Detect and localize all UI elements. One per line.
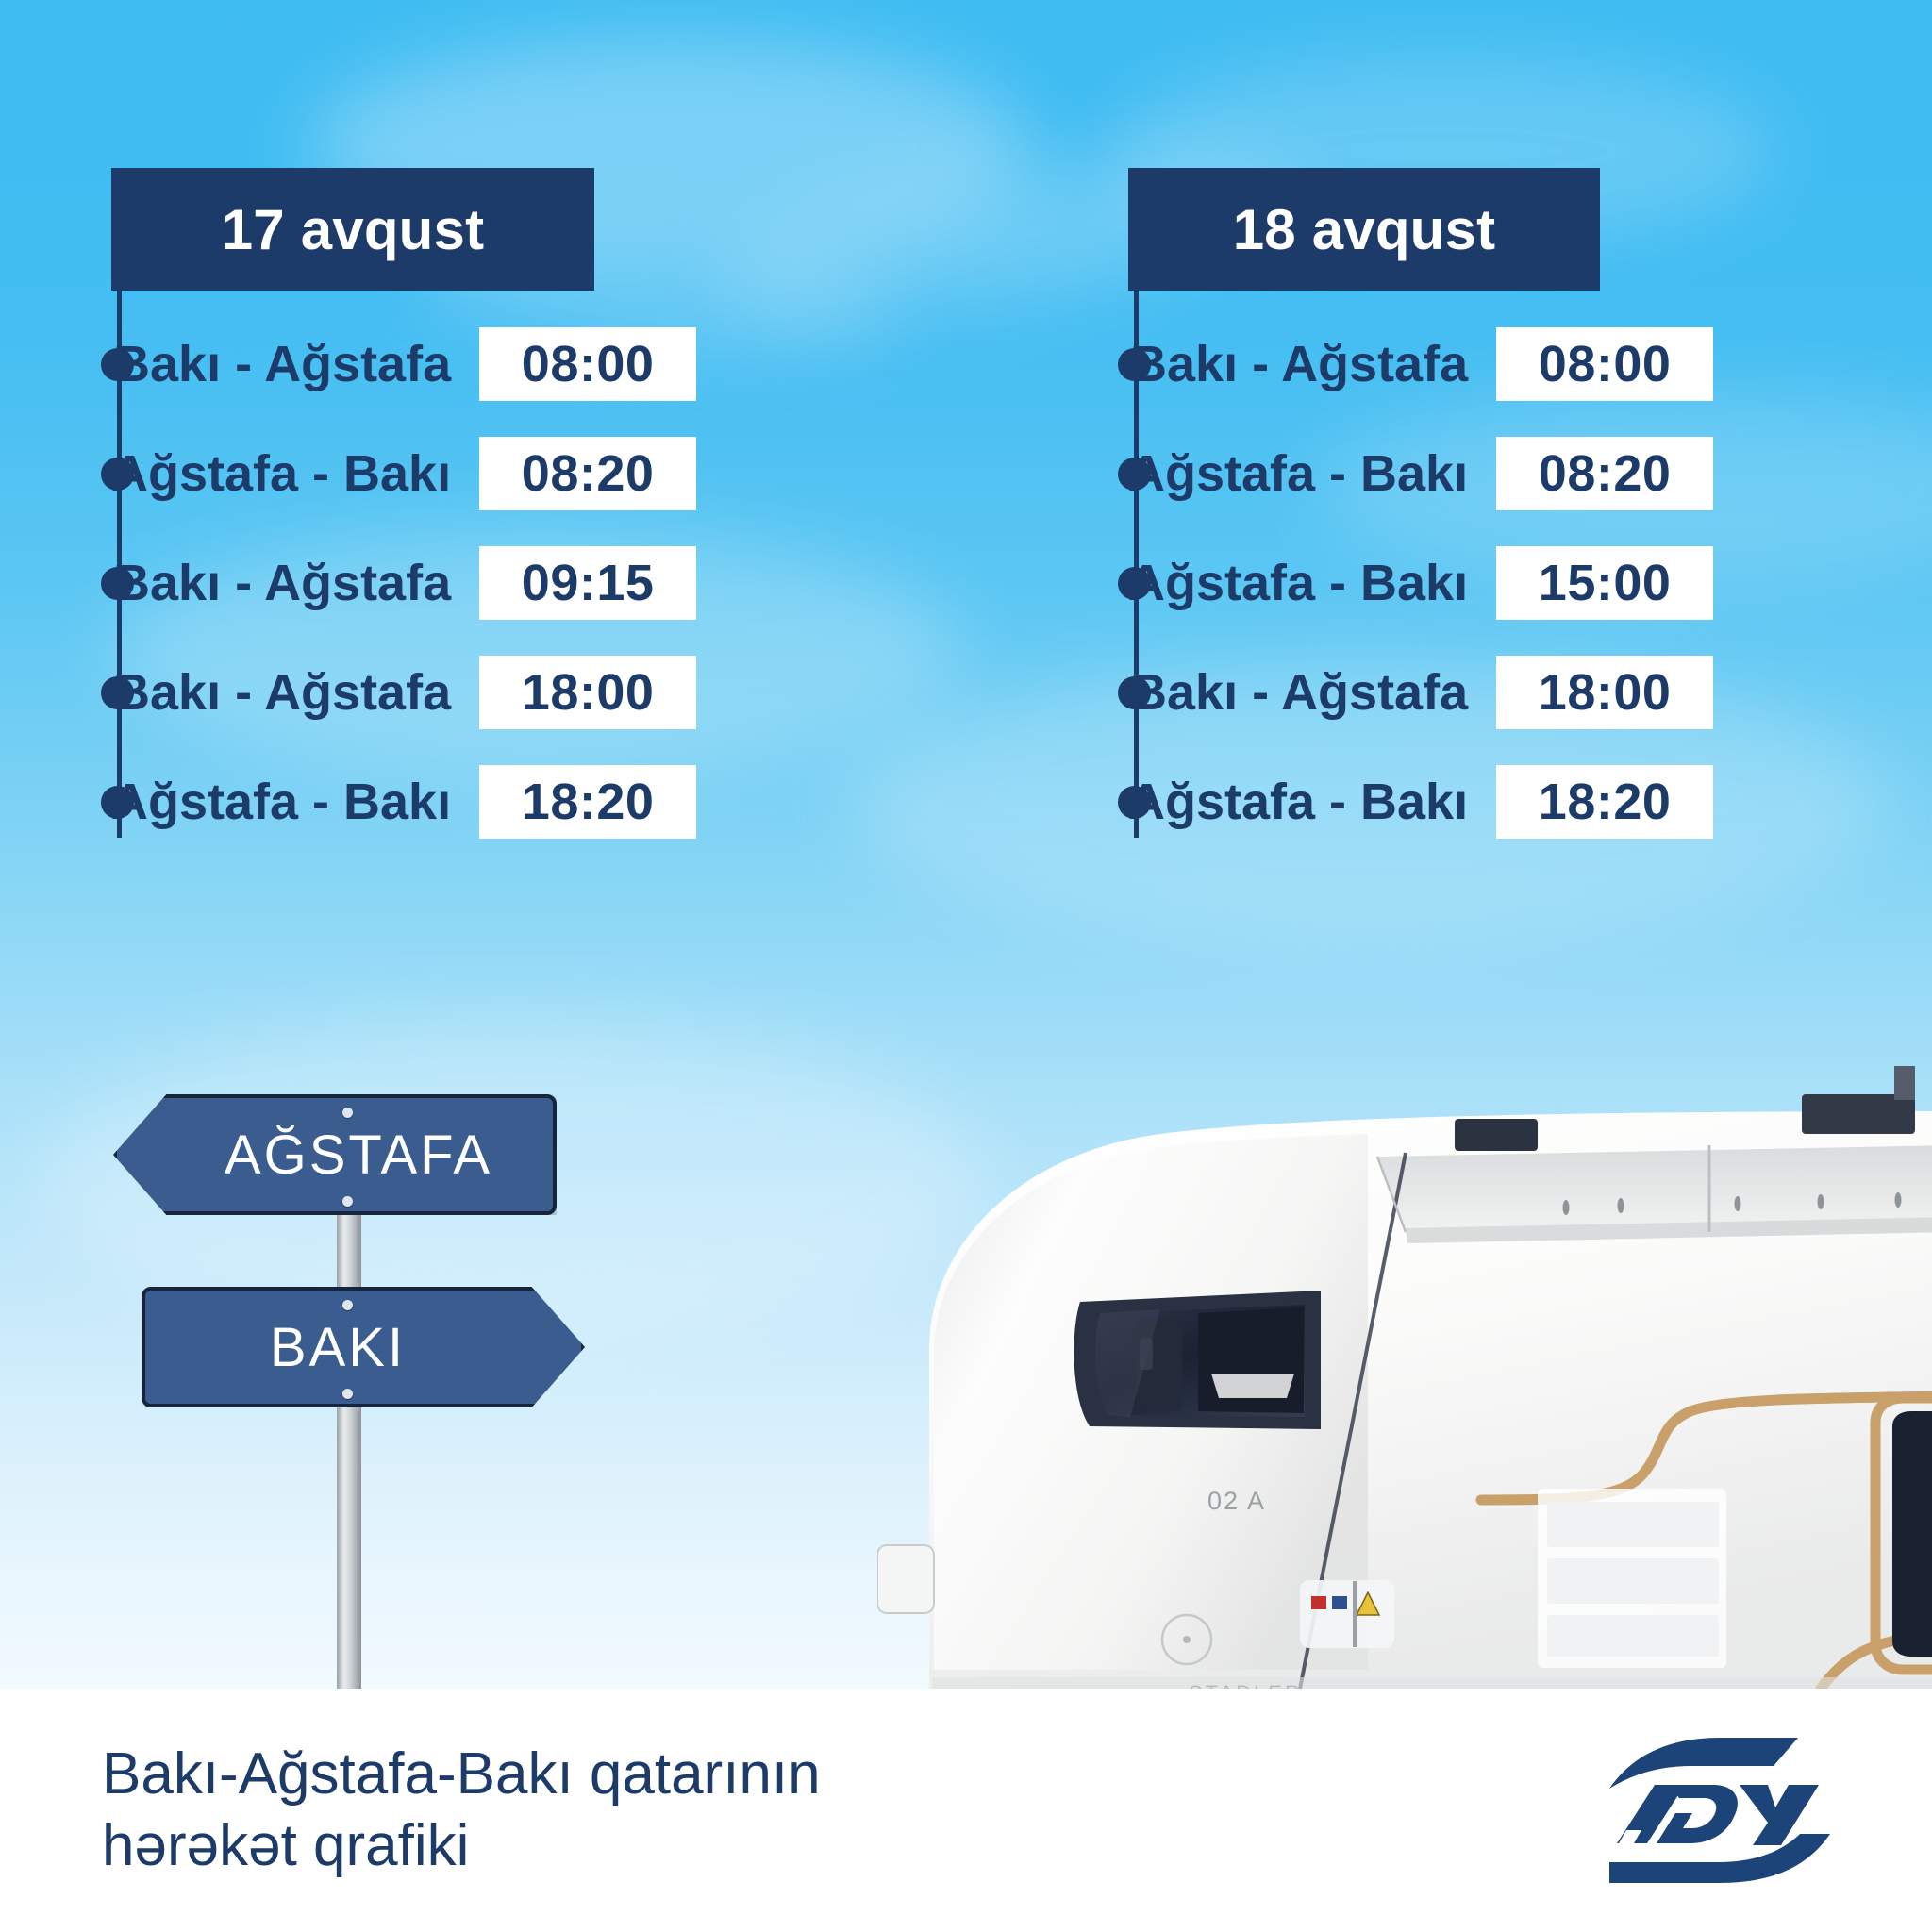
timeline-dot-icon	[1118, 786, 1151, 819]
departure-time: 09:15	[479, 546, 696, 620]
route-label: Ağstafa - Bakı	[111, 444, 479, 503]
departure-time: 08:00	[479, 327, 696, 401]
schedule-panel-day-2: 18 avqust Bakı - Ağstafa 08:00 Ağstafa -…	[1128, 168, 1713, 857]
train-car-number: 02 A	[1207, 1487, 1266, 1515]
footer-title-line-2: hərəkət qrafiki	[102, 1810, 821, 1882]
marker-light	[877, 1545, 934, 1613]
ady-logo[interactable]: ADY	[1602, 1730, 1838, 1890]
schedule-row[interactable]: Ağstafa - Bakı 15:00	[1128, 528, 1713, 638]
route-label: Ağstafa - Bakı	[1128, 773, 1496, 831]
service-hatch-bolt	[1183, 1636, 1191, 1643]
screw-icon	[342, 1389, 353, 1399]
footer-title-line-1: Bakı-Ağstafa-Bakı qatarının	[102, 1741, 821, 1807]
sign-baki-label: BAKI	[270, 1316, 406, 1379]
departure-time: 18:20	[479, 765, 696, 839]
departure-time: 18:00	[1496, 656, 1713, 729]
route-label: Bakı - Ağstafa	[111, 663, 479, 722]
timeline-dot-icon	[101, 676, 134, 709]
sign-agstafa-label: AĞSTAFA	[225, 1124, 492, 1187]
schedule-panel-day-1: 17 avqust Bakı - Ağstafa 08:00 Ağstafa -…	[111, 168, 696, 857]
departure-time: 15:00	[1496, 546, 1713, 620]
train-roof-panel	[1377, 1145, 1932, 1228]
route-label: Ağstafa - Bakı	[1128, 554, 1496, 612]
schedule-row[interactable]: Bakı - Ağstafa 08:00	[1128, 309, 1713, 419]
timeline-dot-icon	[101, 458, 134, 491]
sign-agstafa[interactable]: AĞSTAFA	[113, 1094, 557, 1215]
footer-bar: Bakı-Ağstafa-Bakı qatarının hərəkət qraf…	[0, 1689, 1932, 1932]
schedule-row[interactable]: Bakı - Ağstafa 18:00	[1128, 638, 1713, 747]
route-label: Ağstafa - Bakı	[1128, 444, 1496, 503]
direction-signpost: AĞSTAFA BAKI	[113, 1094, 623, 1698]
windshield-wiper-reflection	[1211, 1374, 1294, 1398]
departure-time: 08:20	[1496, 437, 1713, 510]
timeline-dot-icon	[101, 786, 134, 819]
logo-swoosh-top	[1609, 1738, 1798, 1789]
timeline-dot-icon	[1118, 458, 1151, 491]
schedule-row[interactable]: Bakı - Ağstafa 09:15	[111, 528, 696, 638]
schedule-row[interactable]: Ağstafa - Bakı 08:20	[111, 419, 696, 528]
roof-antenna	[1894, 1066, 1915, 1100]
timeline-dot-icon	[101, 348, 134, 381]
roof-vent	[1455, 1119, 1538, 1151]
schedule-row[interactable]: Bakı - Ağstafa 08:00	[111, 309, 696, 419]
poster-canvas: 17 avqust Bakı - Ağstafa 08:00 Ağstafa -…	[0, 0, 1932, 1932]
schedule-row[interactable]: Ağstafa - Bakı 08:20	[1128, 419, 1713, 528]
route-label: Bakı - Ağstafa	[1128, 335, 1496, 393]
date-header-day-2: 18 avqust	[1128, 168, 1600, 291]
timeline-dot-icon	[1118, 348, 1151, 381]
timeline-dot-icon	[101, 567, 134, 600]
departure-time: 08:00	[1496, 327, 1713, 401]
departure-time: 08:20	[479, 437, 696, 510]
electrical-warning-plate	[1300, 1580, 1394, 1648]
departure-time: 18:20	[1496, 765, 1713, 839]
safety-decal-panel	[1538, 1489, 1726, 1668]
schedule-row[interactable]: Bakı - Ağstafa 18:00	[111, 638, 696, 747]
screw-icon	[342, 1300, 353, 1310]
screw-icon	[342, 1108, 353, 1118]
route-label: Bakı - Ağstafa	[111, 554, 479, 612]
schedule-row[interactable]: Ağstafa - Bakı 18:20	[1128, 747, 1713, 857]
screw-icon	[342, 1196, 353, 1207]
timeline-day-1: Bakı - Ağstafa 08:00 Ağstafa - Bakı 08:2…	[111, 291, 696, 857]
schedule-row[interactable]: Ağstafa - Bakı 18:20	[111, 747, 696, 857]
departure-time: 18:00	[479, 656, 696, 729]
timeline-dot-icon	[1118, 676, 1151, 709]
route-label: Bakı - Ağstafa	[111, 335, 479, 393]
sign-baki[interactable]: BAKI	[142, 1287, 585, 1407]
roof-vent	[1802, 1094, 1915, 1134]
timeline-day-2: Bakı - Ağstafa 08:00 Ağstafa - Bakı 08:2…	[1128, 291, 1713, 857]
date-header-day-1: 17 avqust	[111, 168, 594, 291]
door-window-glass	[1892, 1411, 1932, 1657]
footer-title: Bakı-Ağstafa-Bakı qatarının hərəkət qraf…	[102, 1739, 821, 1881]
train-illustration: 02 A	[877, 1066, 1932, 1707]
timeline-dot-icon	[1118, 567, 1151, 600]
route-label: Ağstafa - Bakı	[111, 773, 479, 831]
route-label: Bakı - Ağstafa	[1128, 663, 1496, 722]
